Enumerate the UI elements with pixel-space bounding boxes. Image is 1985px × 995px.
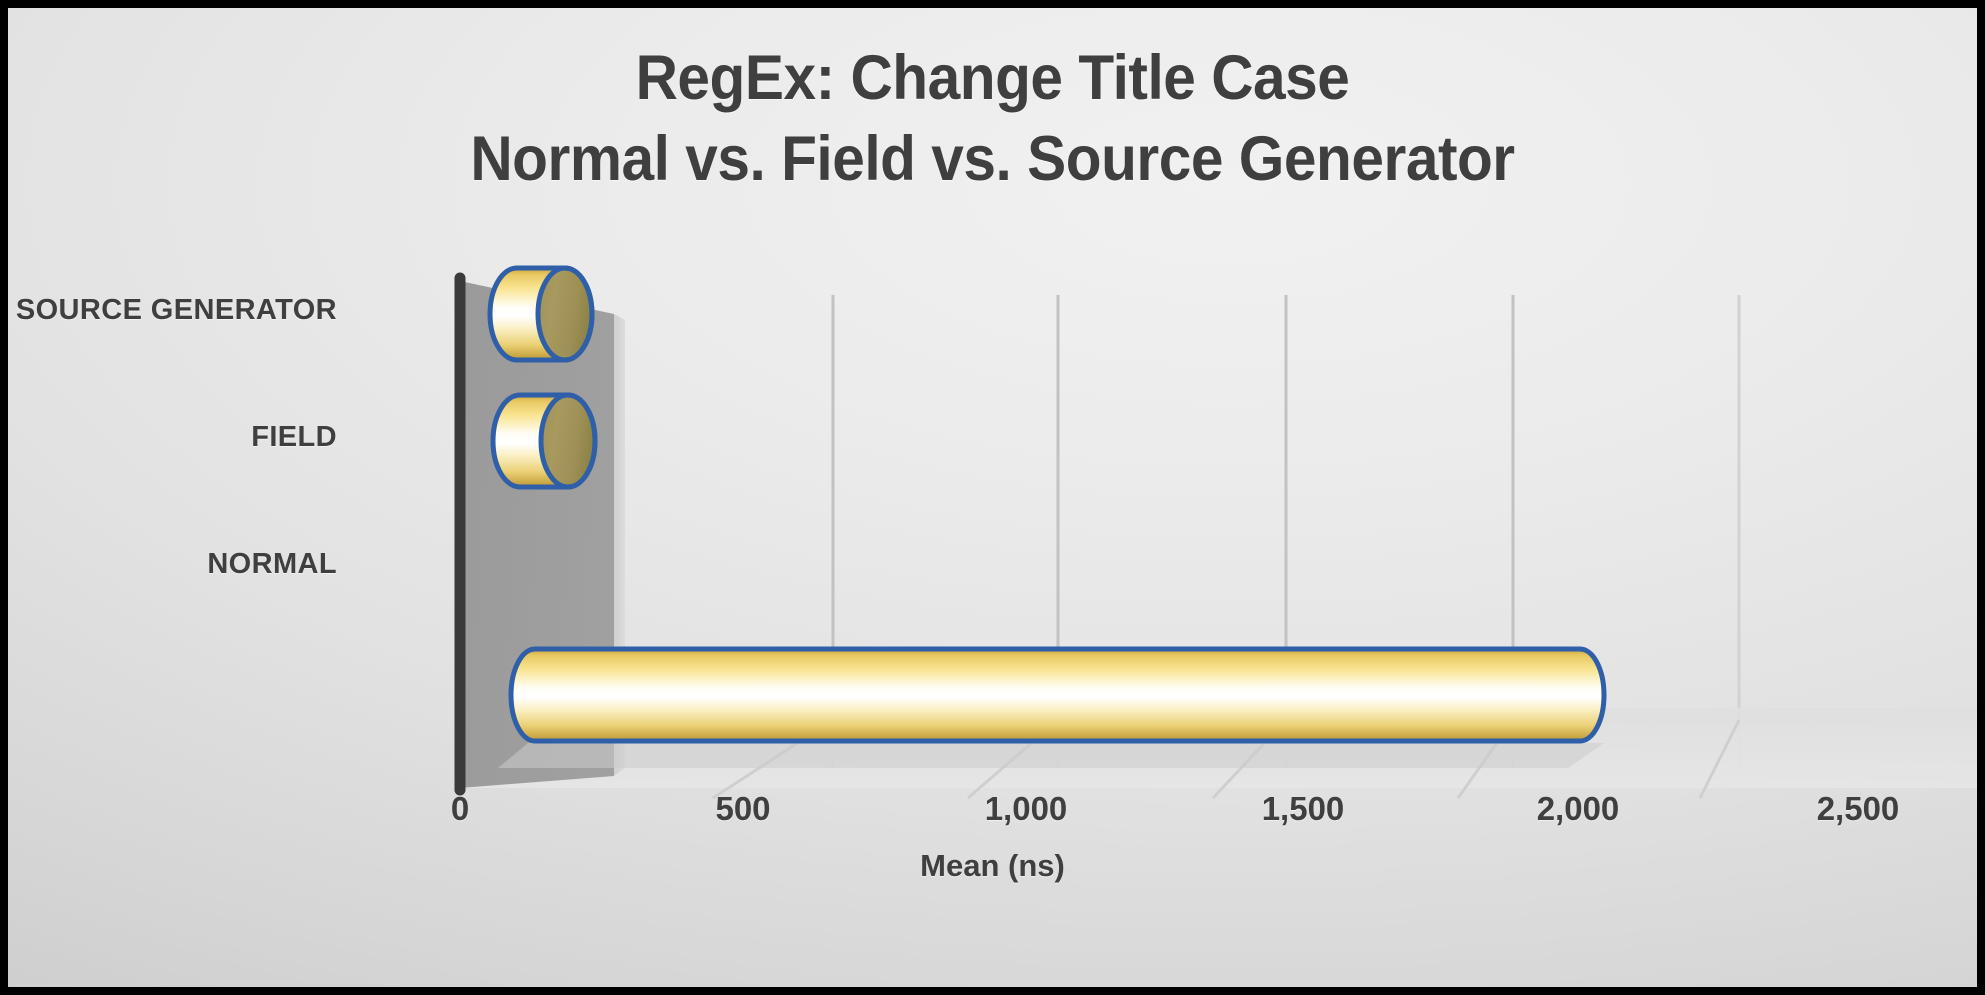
bar-source-generator[interactable] [490, 268, 592, 360]
category-label-normal: NORMAL [207, 548, 337, 581]
bar-normal[interactable] [498, 649, 1604, 768]
plot-area: SOURCE GENERATOR FIELD NORMAL 0 500 1,00… [8, 8, 1977, 987]
xtick-2500: 2,500 [1817, 790, 1900, 828]
xtick-0: 0 [451, 790, 469, 828]
chart-canvas [8, 8, 1977, 987]
category-label-source-generator: SOURCE GENERATOR [16, 294, 337, 327]
xtick-1000: 1,000 [985, 790, 1068, 828]
bar-field[interactable] [493, 395, 595, 487]
category-label-field: FIELD [251, 421, 337, 454]
chart-frame: RegEx: Change Title Case Normal vs. Fiel… [8, 8, 1977, 987]
xtick-1500: 1,500 [1262, 790, 1345, 828]
x-axis-title: Mean (ns) [8, 848, 1977, 884]
xtick-2000: 2,000 [1537, 790, 1620, 828]
xtick-500: 500 [715, 790, 770, 828]
